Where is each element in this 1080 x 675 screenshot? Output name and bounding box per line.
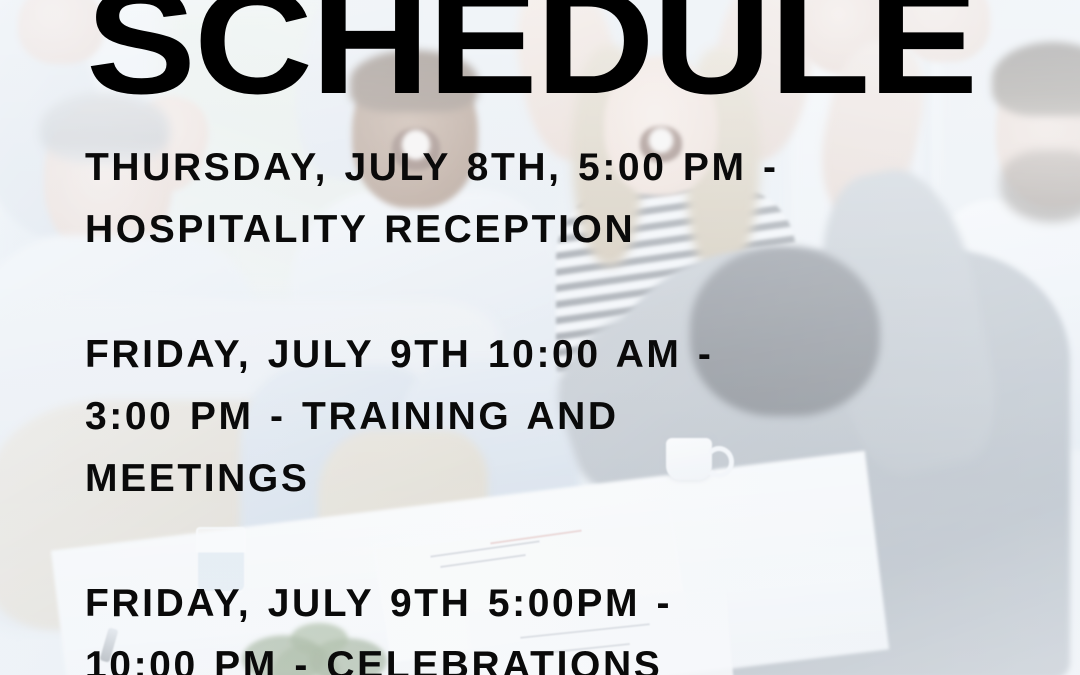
schedule-list: THURSDAY, JULY 8TH, 5:00 PM - HOSPITALIT… — [85, 137, 965, 675]
schedule-entry-line: FRIDAY, JULY 9TH 5:00PM - — [85, 573, 965, 635]
schedule-entry-celebrations: FRIDAY, JULY 9TH 5:00PM - 10:00 PM - CEL… — [85, 573, 965, 675]
schedule-entry-line: 10:00 PM - CELEBRATIONS — [85, 635, 965, 675]
schedule-poster: SCHEDULE THURSDAY, JULY 8TH, 5:00 PM - H… — [0, 0, 1080, 675]
schedule-entry-line: FRIDAY, JULY 9TH 10:00 AM - — [85, 324, 965, 386]
schedule-entry-line: 3:00 PM - TRAINING AND — [85, 386, 965, 448]
schedule-entry-training-and-meetings: FRIDAY, JULY 9TH 10:00 AM - 3:00 PM - TR… — [85, 324, 965, 510]
schedule-entry-line: THURSDAY, JULY 8TH, 5:00 PM - — [85, 137, 965, 199]
text-layer: SCHEDULE THURSDAY, JULY 8TH, 5:00 PM - H… — [0, 0, 1080, 675]
schedule-entry-hospitality-reception: THURSDAY, JULY 8TH, 5:00 PM - HOSPITALIT… — [85, 137, 965, 261]
page-title: SCHEDULE — [86, 0, 976, 116]
schedule-entry-line: HOSPITALITY RECEPTION — [85, 199, 965, 261]
schedule-entry-line: MEETINGS — [85, 448, 965, 510]
